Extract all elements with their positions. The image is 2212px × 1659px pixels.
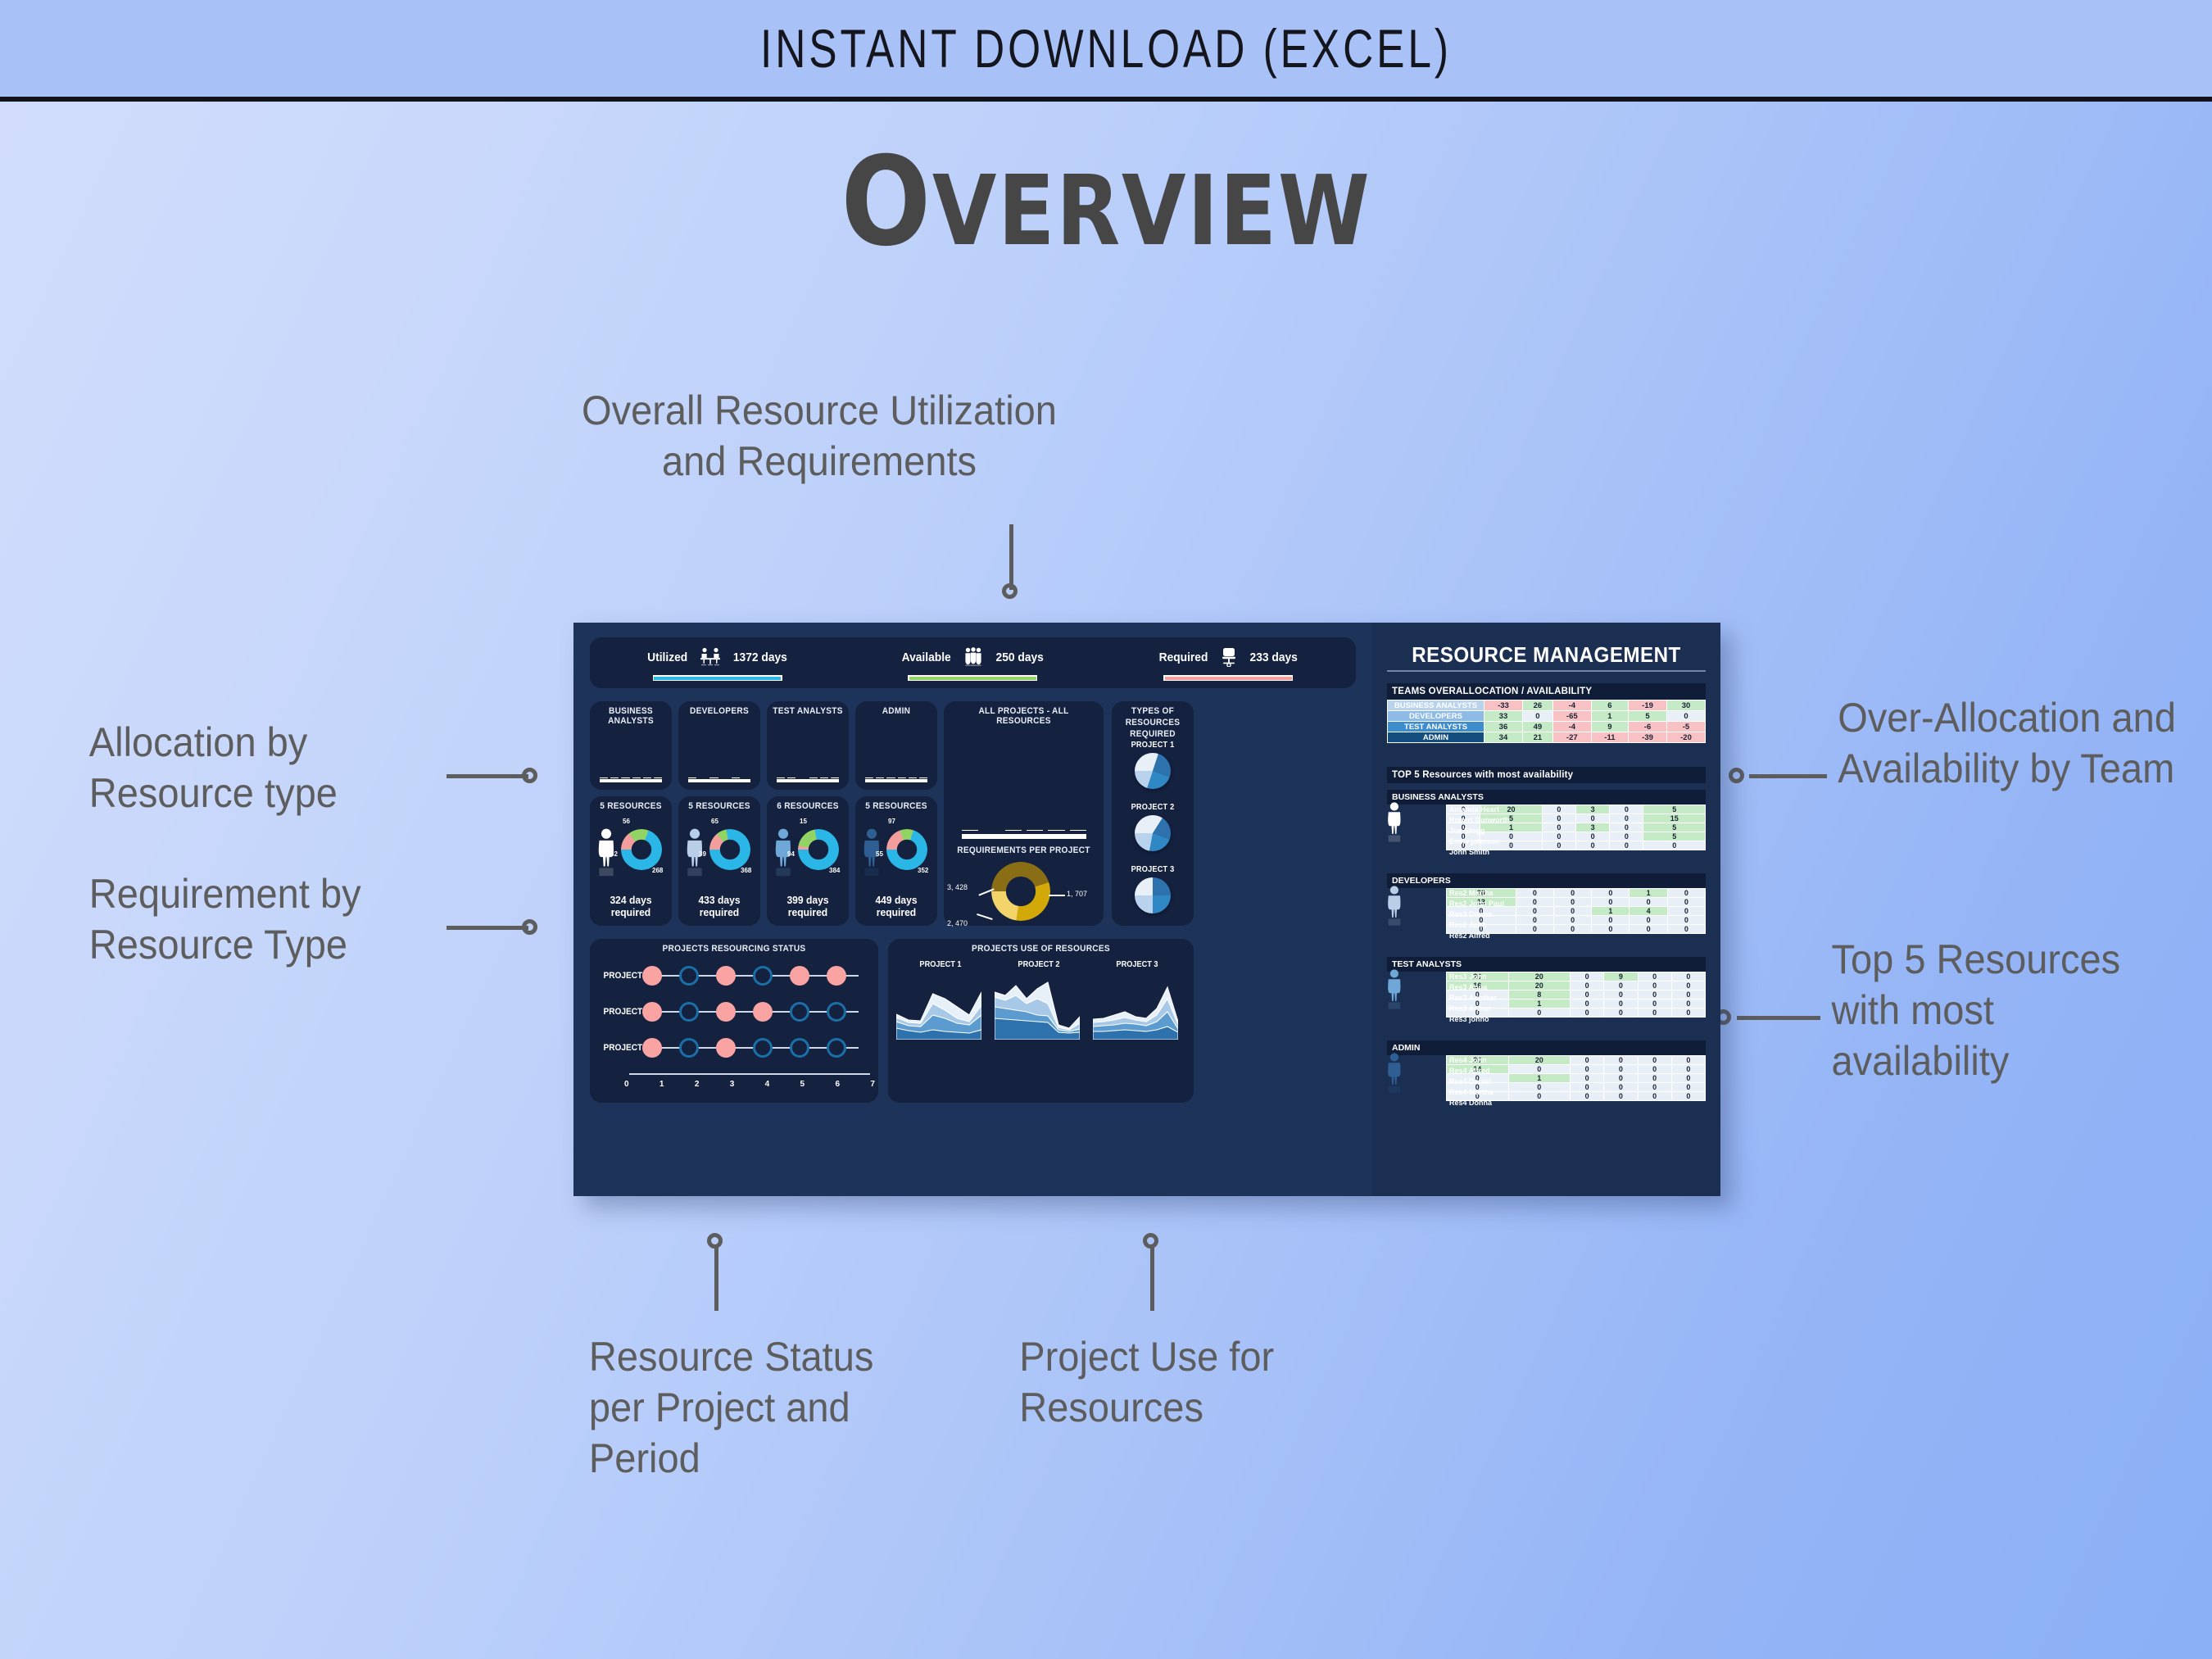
team-row[interactable]: BUSINESS ANALYSTS-3326-46-1930 — [1388, 700, 1706, 711]
availability-cell: 0 — [1638, 972, 1671, 981]
stacked-area-chart — [1093, 979, 1181, 1040]
bar — [1005, 830, 1022, 831]
chart-axis — [777, 779, 839, 782]
days-required-label: 399 days required — [770, 894, 846, 918]
donut-label-2: 352 — [918, 867, 928, 874]
resource-name: Res4 Martha — [1446, 1087, 1505, 1098]
project-use-chart-1[interactable]: PROJECT 1 — [896, 960, 985, 1040]
team-cell: 34 — [1484, 732, 1523, 743]
bar — [610, 777, 619, 778]
availability-cell: 0 — [1671, 981, 1705, 990]
team-name: ADMIN — [1388, 732, 1484, 743]
annotation-left-requirement: Requirement by Resource Type — [89, 868, 443, 970]
availability-cell: 0 — [1553, 889, 1591, 898]
bar — [732, 777, 740, 778]
resource-name: Amanda Heart — [1446, 805, 1505, 815]
group-names: Amanda HeartRobert DunworthJoe BloggEmil… — [1446, 805, 1505, 858]
availability-cell: 0 — [1542, 805, 1575, 814]
availability-donut — [798, 829, 839, 870]
availability-cell: 0 — [1604, 1065, 1638, 1074]
availability-cell: 0 — [1575, 832, 1609, 841]
kpi-value: 250 days — [996, 650, 1044, 664]
bar — [831, 777, 839, 778]
axis-tick: 2 — [695, 1080, 700, 1093]
bar — [909, 777, 917, 778]
availability-cell: 0 — [1571, 1065, 1604, 1074]
axis-tick: 3 — [730, 1080, 735, 1093]
resourcing-status-ticks: 01234567 — [624, 1080, 875, 1093]
chart-axis — [688, 779, 750, 782]
card-requirement-developers[interactable]: 5 RESOURCES 65 39 368 433 days required — [678, 796, 760, 926]
resourcing-status-axis — [629, 1073, 870, 1075]
status-node[interactable] — [642, 966, 662, 986]
status-node[interactable] — [827, 1038, 846, 1058]
availability-cell: 0 — [1671, 972, 1705, 981]
availability-cell: 0 — [1610, 814, 1643, 823]
availability-cell: 0 — [1592, 898, 1630, 907]
team-cell: -4 — [1552, 700, 1591, 711]
projects-use-title: PROJECTS USE OF RESOURCES — [900, 944, 1181, 954]
availability-cell: 0 — [1610, 832, 1643, 841]
status-node[interactable] — [642, 1002, 662, 1022]
kpi-value: 1372 days — [732, 650, 786, 664]
chart-title: PROJECT 3 — [1096, 960, 1177, 969]
resource-name: Res4 John — [1446, 1055, 1505, 1066]
pie-chart-project-2 — [1135, 815, 1171, 851]
availability-cell: 0 — [1575, 841, 1609, 850]
project-use-chart-2[interactable]: PROJECT 2 — [995, 960, 1083, 1040]
bar — [876, 777, 884, 778]
availability-donut — [621, 829, 662, 870]
availability-cell: 0 — [1604, 1074, 1638, 1083]
pie-block-project-1: PROJECT 1 — [1112, 741, 1194, 789]
availability-cell: 0 — [1553, 898, 1591, 907]
team-row[interactable]: TEST ANALYSTS3649-49-6-5 — [1388, 722, 1706, 732]
card-requirement-business-analysts[interactable]: 5 RESOURCES 56 62 268 324 days required — [590, 796, 672, 926]
pie-block-project-2: PROJECT 2 — [1112, 803, 1194, 851]
availability-cell: 0 — [1516, 889, 1553, 898]
days-required-label: 324 days required — [593, 894, 669, 918]
bar — [919, 777, 927, 778]
availability-cell: 0 — [1516, 916, 1553, 925]
promo-banner-text: INSTANT DOWNLOAD (EXCEL) — [760, 17, 1452, 79]
donut-label-2: 368 — [741, 867, 751, 874]
axis-tick: 6 — [835, 1080, 840, 1093]
availability-cell: 0 — [1610, 805, 1643, 814]
top5-group-developers: DEVELOPERS Res2 MarthaRes2 John PaulRes2… — [1387, 873, 1706, 934]
panel-title: TEST ANALYSTS — [770, 706, 845, 716]
bar — [621, 777, 629, 778]
dashboard-left-area: Utilized 1372 days Available — [573, 623, 1372, 1196]
status-node[interactable] — [827, 966, 846, 986]
kpi-progress-bar — [653, 675, 782, 681]
kpi-utilized[interactable]: Utilized 1372 days — [590, 637, 845, 688]
availability-cell: 0 — [1592, 925, 1630, 934]
bar — [809, 777, 818, 778]
availability-cell: 0 — [1667, 889, 1705, 898]
axis-tick: 0 — [624, 1080, 629, 1093]
chart-axis — [600, 779, 662, 782]
kpi-progress-bar — [908, 675, 1037, 681]
status-node[interactable] — [827, 1002, 846, 1022]
team-cell: 21 — [1522, 732, 1552, 743]
top5-section-header: TOP 5 Resources with most availability — [1387, 767, 1706, 783]
availability-cell: 0 — [1571, 1074, 1604, 1083]
group-header: DEVELOPERS — [1387, 873, 1706, 888]
person-icon — [1385, 885, 1403, 927]
chart-title: PROJECT 1 — [900, 960, 981, 969]
panel-title: 5 RESOURCES — [859, 801, 934, 811]
panel-projects-resourcing-status[interactable]: PROJECTS RESOURCING STATUS PROJECT 3 PRO… — [590, 939, 878, 1103]
availability-cell: 0 — [1604, 990, 1638, 999]
bar — [600, 777, 608, 778]
resource-management-panel: RESOURCE MANAGEMENT TEAMS OVERALLOCATION… — [1372, 623, 1720, 1196]
panel-title: DEVELOPERS — [682, 706, 757, 716]
bar — [643, 777, 651, 778]
availability-cell: 0 — [1638, 1083, 1671, 1092]
availability-cell: 0 — [1638, 999, 1671, 1009]
availability-cell: 0 — [1667, 907, 1705, 916]
availability-cell: 0 — [1553, 916, 1591, 925]
status-node[interactable] — [790, 966, 809, 986]
availability-cell: 0 — [1571, 972, 1604, 981]
availability-cell: 0 — [1508, 1083, 1571, 1092]
status-row[interactable]: PROJECT 2 — [590, 999, 878, 1024]
donut-label-1: 2, 470 — [947, 919, 968, 927]
bar — [865, 777, 873, 778]
team-cell: 5 — [1629, 711, 1667, 722]
availability-cell: 0 — [1638, 1056, 1671, 1065]
pie-label-project-3: PROJECT 3 — [1115, 865, 1190, 874]
stacked-area-chart — [995, 979, 1083, 1040]
status-node[interactable] — [753, 1002, 773, 1022]
availability-cell: 0 — [1671, 999, 1705, 1009]
status-row[interactable]: PROJECT 3 — [590, 963, 878, 988]
resource-name: Joe Blogg — [1446, 826, 1505, 836]
donut-label-1: 94 — [787, 850, 795, 858]
panel-title: 6 RESOURCES — [770, 801, 845, 811]
resource-name: Res4 Daniel — [1446, 1077, 1505, 1087]
types-required-title: TYPES OF RESOURCES REQUIRED — [1115, 706, 1190, 740]
availability-cell: 5 — [1643, 823, 1706, 832]
panel-title: BUSINESS ANALYSTS — [593, 706, 669, 726]
team-cell: -5 — [1667, 722, 1706, 732]
group-names: Res3 JohnRes3 AnnaRes3 AnotherRes3 Arthu… — [1446, 972, 1505, 1025]
resource-name: Res2 Donna — [1446, 909, 1505, 920]
panel-all-projects-all-resources[interactable]: ALL PROJECTS - ALL RESOURCES REQUIREMENT… — [944, 701, 1104, 926]
team-row[interactable]: ADMIN3421-27-11-39-20 — [1388, 732, 1706, 743]
group-grid: Res3 JohnRes3 AnnaRes3 AnotherRes3 Arthu… — [1446, 972, 1706, 1018]
panel-allocation-test-analysts[interactable]: TEST ANALYSTS — [767, 701, 849, 790]
team-cell: 30 — [1667, 700, 1706, 711]
resource-name: Res4 Alfred — [1446, 1066, 1505, 1077]
top5-group-business-analysts: BUSINESS ANALYSTS Amanda HeartRobert Dun… — [1387, 790, 1706, 850]
group-names: Res4 JohnRes4 AlfredRes4 DanielRes4 Mart… — [1446, 1055, 1505, 1108]
bar-chart — [777, 724, 839, 778]
availability-cell: 0 — [1575, 814, 1609, 823]
bar — [1027, 830, 1043, 831]
availability-cell: 0 — [1542, 814, 1575, 823]
bar-chart — [688, 724, 750, 778]
team-cell: -39 — [1629, 732, 1667, 743]
chart-title: PROJECT 2 — [998, 960, 1079, 969]
availability-cell: 0 — [1604, 1056, 1638, 1065]
donut-label-2: 384 — [829, 867, 840, 874]
kpi-label: Available — [902, 650, 951, 664]
annotation-right-top5: Top 5 Resources with most availability — [1832, 934, 2178, 1086]
bar — [898, 777, 906, 778]
pie-block-project-3: PROJECT 3 — [1112, 865, 1194, 913]
annotation-bottom-status: Resource Status per Project and Period — [589, 1331, 920, 1484]
availability-cell: 0 — [1671, 1065, 1705, 1074]
resource-management-title: RESOURCE MANAGEMENT — [1385, 642, 1708, 668]
requirements-per-project-donut — [991, 862, 1050, 921]
resource-name: Res4 Donna — [1446, 1098, 1505, 1108]
all-projects-axis — [962, 834, 1086, 839]
panel-title: ADMIN — [859, 706, 934, 716]
group-header: BUSINESS ANALYSTS — [1387, 790, 1706, 805]
pie-chart-project-1 — [1135, 753, 1171, 789]
status-node[interactable] — [679, 1038, 699, 1058]
card-requirement-test-analysts[interactable]: 6 RESOURCES 15 94 384 399 days required — [767, 796, 849, 926]
availability-cell: 0 — [1667, 916, 1705, 925]
resource-name: Res2 Martha — [1446, 888, 1505, 899]
availability-cell: 20 — [1508, 981, 1571, 990]
status-node[interactable] — [753, 966, 773, 986]
team-cell: -6 — [1629, 722, 1667, 732]
donut-label-2: 1, 707 — [1067, 890, 1087, 898]
person-icon — [1385, 968, 1403, 1011]
panel-title: 5 RESOURCES — [682, 801, 757, 811]
availability-cell: 1 — [1508, 999, 1571, 1009]
team-cell: 0 — [1667, 711, 1706, 722]
bar — [777, 777, 785, 778]
requirements-per-project-title: REQUIREMENTS PER PROJECT — [950, 845, 1097, 855]
availability-cell: 0 — [1610, 841, 1643, 850]
panel-allocation-business-analysts[interactable]: BUSINESS ANALYSTS — [590, 701, 672, 790]
group-grid: Res2 MarthaRes2 John PaulRes2 DonnaRes2 … — [1446, 888, 1706, 934]
availability-cell: 0 — [1516, 907, 1553, 916]
availability-cell: 1 — [1592, 907, 1630, 916]
team-cell: 36 — [1484, 722, 1523, 732]
team-cell: -33 — [1484, 700, 1523, 711]
person-icon — [1385, 1052, 1403, 1095]
days-required-label: 449 days required — [859, 894, 935, 918]
annotation-top: Overall Resource Utilization and Require… — [557, 385, 1081, 487]
bar — [1070, 830, 1086, 831]
availability-cell: 15 — [1643, 814, 1706, 823]
status-node[interactable] — [716, 966, 736, 986]
availability-cell: 0 — [1638, 1065, 1671, 1074]
availability-cell: 3 — [1575, 805, 1609, 814]
team-cell: -11 — [1591, 732, 1628, 743]
availability-donut — [886, 829, 927, 870]
availability-cell: 0 — [1671, 990, 1705, 999]
resource-name: Res2 John — [1446, 920, 1505, 931]
card-requirement-admin[interactable]: 5 RESOURCES 97 55 352 449 days required — [855, 796, 937, 926]
annotation-right-overallocation: Over-Allocation and Availability by Team — [1838, 692, 2177, 794]
pie-label-project-2: PROJECT 2 — [1115, 803, 1190, 812]
team-cell: 0 — [1522, 711, 1552, 722]
availability-cell: 0 — [1553, 925, 1591, 934]
donut-label-0: 15 — [800, 818, 807, 825]
team-cell: 49 — [1522, 722, 1552, 732]
team-cell: 1 — [1591, 711, 1628, 722]
axis-tick: 7 — [870, 1080, 875, 1093]
office-chair-icon — [1220, 647, 1238, 667]
all-projects-bar-chart — [962, 749, 1086, 831]
project-use-chart-3[interactable]: PROJECT 3 — [1093, 960, 1181, 1040]
panel-allocation-admin[interactable]: ADMIN — [855, 701, 937, 790]
availability-cell: 0 — [1604, 1083, 1638, 1092]
status-row[interactable]: PROJECT 1 — [590, 1036, 878, 1060]
status-node[interactable] — [679, 1002, 699, 1022]
resource-name: Res3 Another — [1446, 993, 1505, 1004]
page-title: OVERVIEW — [155, 131, 2057, 274]
status-node[interactable] — [716, 1038, 736, 1058]
bar — [886, 777, 895, 778]
donut-label-0: 3, 428 — [947, 883, 968, 891]
donut-label-2: 268 — [652, 867, 663, 874]
bar — [962, 830, 978, 831]
resource-name: Robert Dunworth — [1446, 815, 1505, 826]
availability-cell: 0 — [1667, 925, 1705, 934]
stacked-area-chart — [896, 979, 985, 1040]
availability-cell: 0 — [1542, 823, 1575, 832]
kpi-label: Utilized — [647, 650, 687, 664]
availability-cell: 0 — [1671, 1083, 1705, 1092]
status-node[interactable] — [790, 1038, 809, 1058]
availability-cell: 8 — [1508, 990, 1571, 999]
team-cell: 33 — [1484, 711, 1523, 722]
status-node[interactable] — [716, 1002, 736, 1022]
title-divider — [1387, 670, 1706, 672]
availability-cell: 0 — [1638, 990, 1671, 999]
bar-chart — [865, 724, 927, 778]
availability-cell: 5 — [1643, 805, 1706, 814]
availability-cell: 0 — [1604, 1092, 1638, 1101]
donut-label-0: 65 — [711, 818, 718, 825]
group-grid: Amanda HeartRobert DunworthJoe BloggEmil… — [1446, 805, 1706, 850]
availability-cell: 0 — [1638, 1092, 1671, 1101]
three-people-icon — [963, 647, 984, 667]
pie-label-project-1: PROJECT 1 — [1115, 741, 1190, 750]
axis-tick: 4 — [765, 1080, 770, 1093]
availability-cell: 0 — [1667, 898, 1705, 907]
availability-cell: 0 — [1671, 1056, 1705, 1065]
team-cell: 9 — [1591, 722, 1628, 732]
resource-name: Res3 johno — [1446, 1014, 1505, 1025]
availability-cell: 0 — [1671, 1092, 1705, 1101]
bar — [632, 777, 641, 778]
availability-cell: 0 — [1630, 898, 1667, 907]
availability-cell: 0 — [1542, 841, 1575, 850]
team-cell: -4 — [1552, 722, 1591, 732]
availability-cell: 0 — [1508, 1009, 1571, 1018]
resource-name: Res3 Arthur — [1446, 1004, 1505, 1014]
availability-cell: 0 — [1571, 1009, 1604, 1018]
kpi-required[interactable]: Required 233 days — [1100, 637, 1356, 688]
donut-label-1: 39 — [699, 850, 706, 858]
team-cell: 6 — [1591, 700, 1628, 711]
donut-leader-1 — [977, 913, 992, 920]
days-required-label: 433 days required — [682, 894, 758, 918]
kpi-available[interactable]: Available 250 days — [845, 637, 1101, 688]
panel-types-of-resources-required[interactable]: TYPES OF RESOURCES REQUIRED PROJECT 1 PR… — [1112, 701, 1194, 926]
availability-cell: 0 — [1671, 1074, 1705, 1083]
bar — [787, 777, 796, 778]
resourcing-status-title: PROJECTS RESOURCING STATUS — [601, 944, 867, 954]
availability-cell: 0 — [1553, 907, 1591, 916]
availability-cell: 4 — [1630, 907, 1667, 916]
team-name: BUSINESS ANALYSTS — [1388, 700, 1484, 711]
donut-label-1: 55 — [876, 850, 883, 858]
teams-section-header: TEAMS OVERALLOCATION / AVAILABILITY — [1387, 683, 1706, 700]
availability-cell: 0 — [1604, 1009, 1638, 1018]
bar — [709, 777, 718, 778]
person-icon — [1385, 801, 1403, 844]
panel-allocation-developers[interactable]: DEVELOPERS — [678, 701, 760, 790]
availability-cell: 0 — [1604, 999, 1638, 1009]
availability-cell: 1 — [1630, 889, 1667, 898]
availability-cell: 0 — [1671, 1009, 1705, 1018]
top5-group-admin: ADMIN Res4 JohnRes4 AlfredRes4 DanielRes… — [1387, 1040, 1706, 1101]
availability-cell: 0 — [1508, 1092, 1571, 1101]
annotation-bottom-projectuse: Project Use for Resources — [1019, 1331, 1335, 1433]
status-node[interactable] — [679, 966, 699, 986]
availability-donut — [709, 829, 750, 870]
bar — [688, 777, 696, 778]
dashboard-screenshot: Utilized 1372 days Available — [573, 623, 1720, 1196]
group-header: TEST ANALYSTS — [1387, 957, 1706, 972]
people-at-desk-icon — [700, 647, 721, 667]
all-projects-title: ALL PROJECTS - ALL RESOURCES — [950, 706, 1097, 726]
availability-cell: 0 — [1571, 990, 1604, 999]
availability-cell: 3 — [1575, 823, 1609, 832]
kpi-value: 233 days — [1250, 650, 1298, 664]
team-row[interactable]: DEVELOPERS330-65150 — [1388, 711, 1706, 722]
donut-label-0: 56 — [623, 818, 630, 825]
resource-name: Res2 Alfred — [1446, 931, 1505, 941]
status-node[interactable] — [790, 1002, 809, 1022]
bar — [820, 777, 828, 778]
panel-projects-use-of-resources[interactable]: PROJECTS USE OF RESOURCES PROJECT 1 PROJ… — [888, 939, 1194, 1103]
status-node[interactable] — [753, 1038, 773, 1058]
annotation-left-allocation: Allocation by Resource type — [89, 717, 443, 818]
bar — [1048, 830, 1064, 831]
availability-cell: 5 — [1643, 832, 1706, 841]
availability-cell: 0 — [1571, 981, 1604, 990]
panel-title: 5 RESOURCES — [593, 801, 669, 811]
availability-cell: 1 — [1508, 1074, 1571, 1083]
availability-cell: 0 — [1604, 981, 1638, 990]
axis-tick: 5 — [800, 1080, 805, 1093]
team-cell: 26 — [1522, 700, 1552, 711]
resource-name: Res3 Anna — [1446, 982, 1505, 993]
resource-name: Res3 John — [1446, 972, 1505, 982]
team-name: DEVELOPERS — [1388, 711, 1484, 722]
resource-name: Emily johnson — [1446, 836, 1505, 847]
availability-cell: 0 — [1516, 898, 1553, 907]
group-names: Res2 MarthaRes2 John PaulRes2 DonnaRes2 … — [1446, 888, 1505, 941]
teams-overallocation-table: BUSINESS ANALYSTS-3326-46-1930DEVELOPERS… — [1387, 700, 1706, 743]
availability-cell: 0 — [1542, 832, 1575, 841]
chart-axis — [865, 779, 927, 782]
status-node[interactable] — [642, 1038, 662, 1058]
bar-chart — [600, 724, 662, 778]
availability-cell: 0 — [1571, 999, 1604, 1009]
axis-tick: 1 — [660, 1080, 664, 1093]
